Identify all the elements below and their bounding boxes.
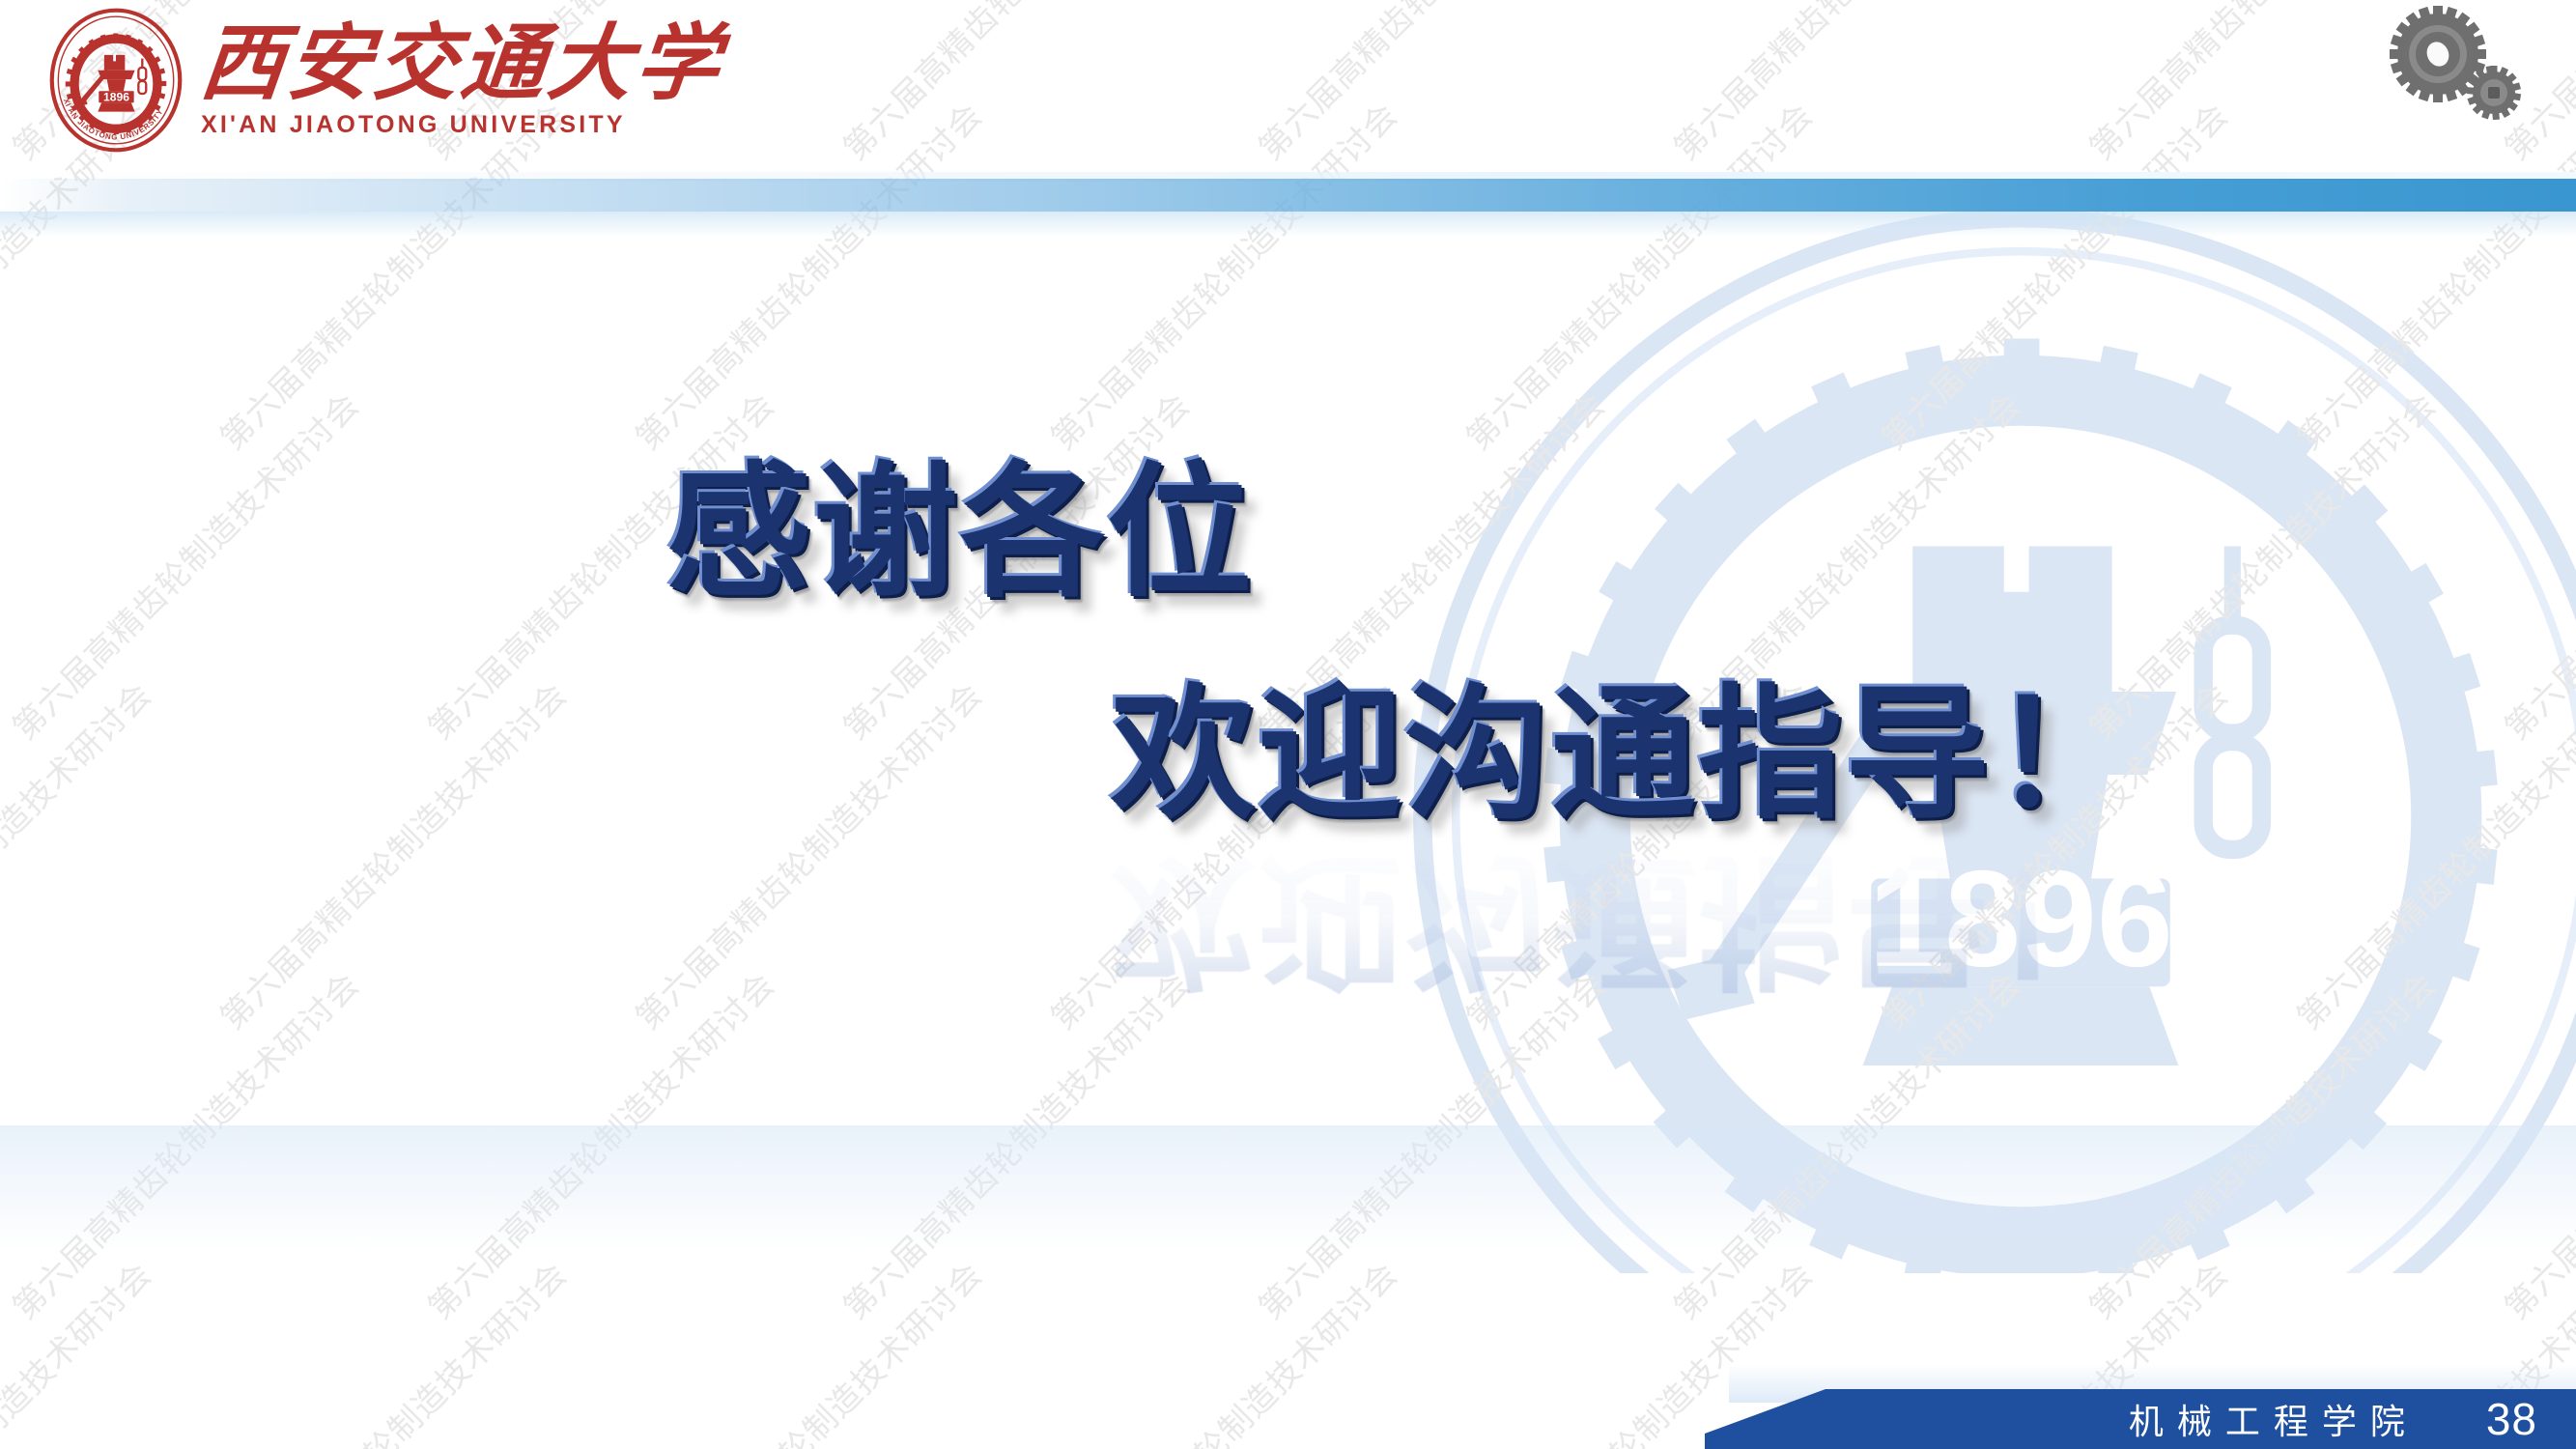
slide-canvas: 1896 第六届高精齿轮制造技术研讨会第六届高精齿轮制造技术研讨会第六届高精齿轮… — [0, 0, 2576, 1449]
watermark-text: 第六届高精齿轮制造技术研讨会 — [208, 1250, 576, 1449]
university-logo: 1896 XI'AN JIAOTONG UNIVERSITY 西安交通大学 XI… — [48, 8, 722, 153]
watermark-text: 第六届高精齿轮制造技术研讨会 — [1038, 1250, 1406, 1449]
reflection-sheen — [0, 1125, 2576, 1251]
university-name-en: XI'AN JIAOTONG UNIVERSITY — [201, 111, 722, 139]
title-block: 感谢各位 欢迎沟通指导！ 欢迎沟通指导！ — [0, 415, 2576, 1111]
gears-icon — [2378, 4, 2523, 120]
header-divider-band — [0, 179, 2576, 212]
slide-header: 1896 XI'AN JIAOTONG UNIVERSITY 西安交通大学 XI… — [0, 0, 2576, 241]
welcome-line-reflection: 欢迎沟通指导！ — [1111, 827, 2138, 1037]
thanks-line: 感谢各位 — [666, 415, 1254, 625]
seal-year: 1896 — [103, 90, 129, 103]
logo-text-block: 西安交通大学 XI'AN JIAOTONG UNIVERSITY — [201, 22, 722, 139]
xjtu-seal-icon: 1896 XI'AN JIAOTONG UNIVERSITY — [48, 8, 184, 153]
welcome-line: 欢迎沟通指导！ — [1111, 638, 2138, 847]
footer-page-number: 38 — [2486, 1393, 2537, 1445]
slide-footer: 机械工程学院 38 — [1705, 1389, 2576, 1449]
footer-department-label: 机械工程学院 — [2129, 1394, 2419, 1444]
watermark-text: 第六届高精齿轮制造技术研讨会 — [623, 1250, 991, 1449]
watermark-text: 第六届高精齿轮制造技术研讨会 — [0, 1250, 160, 1449]
university-name-cn: 西安交通大学 — [196, 22, 726, 105]
